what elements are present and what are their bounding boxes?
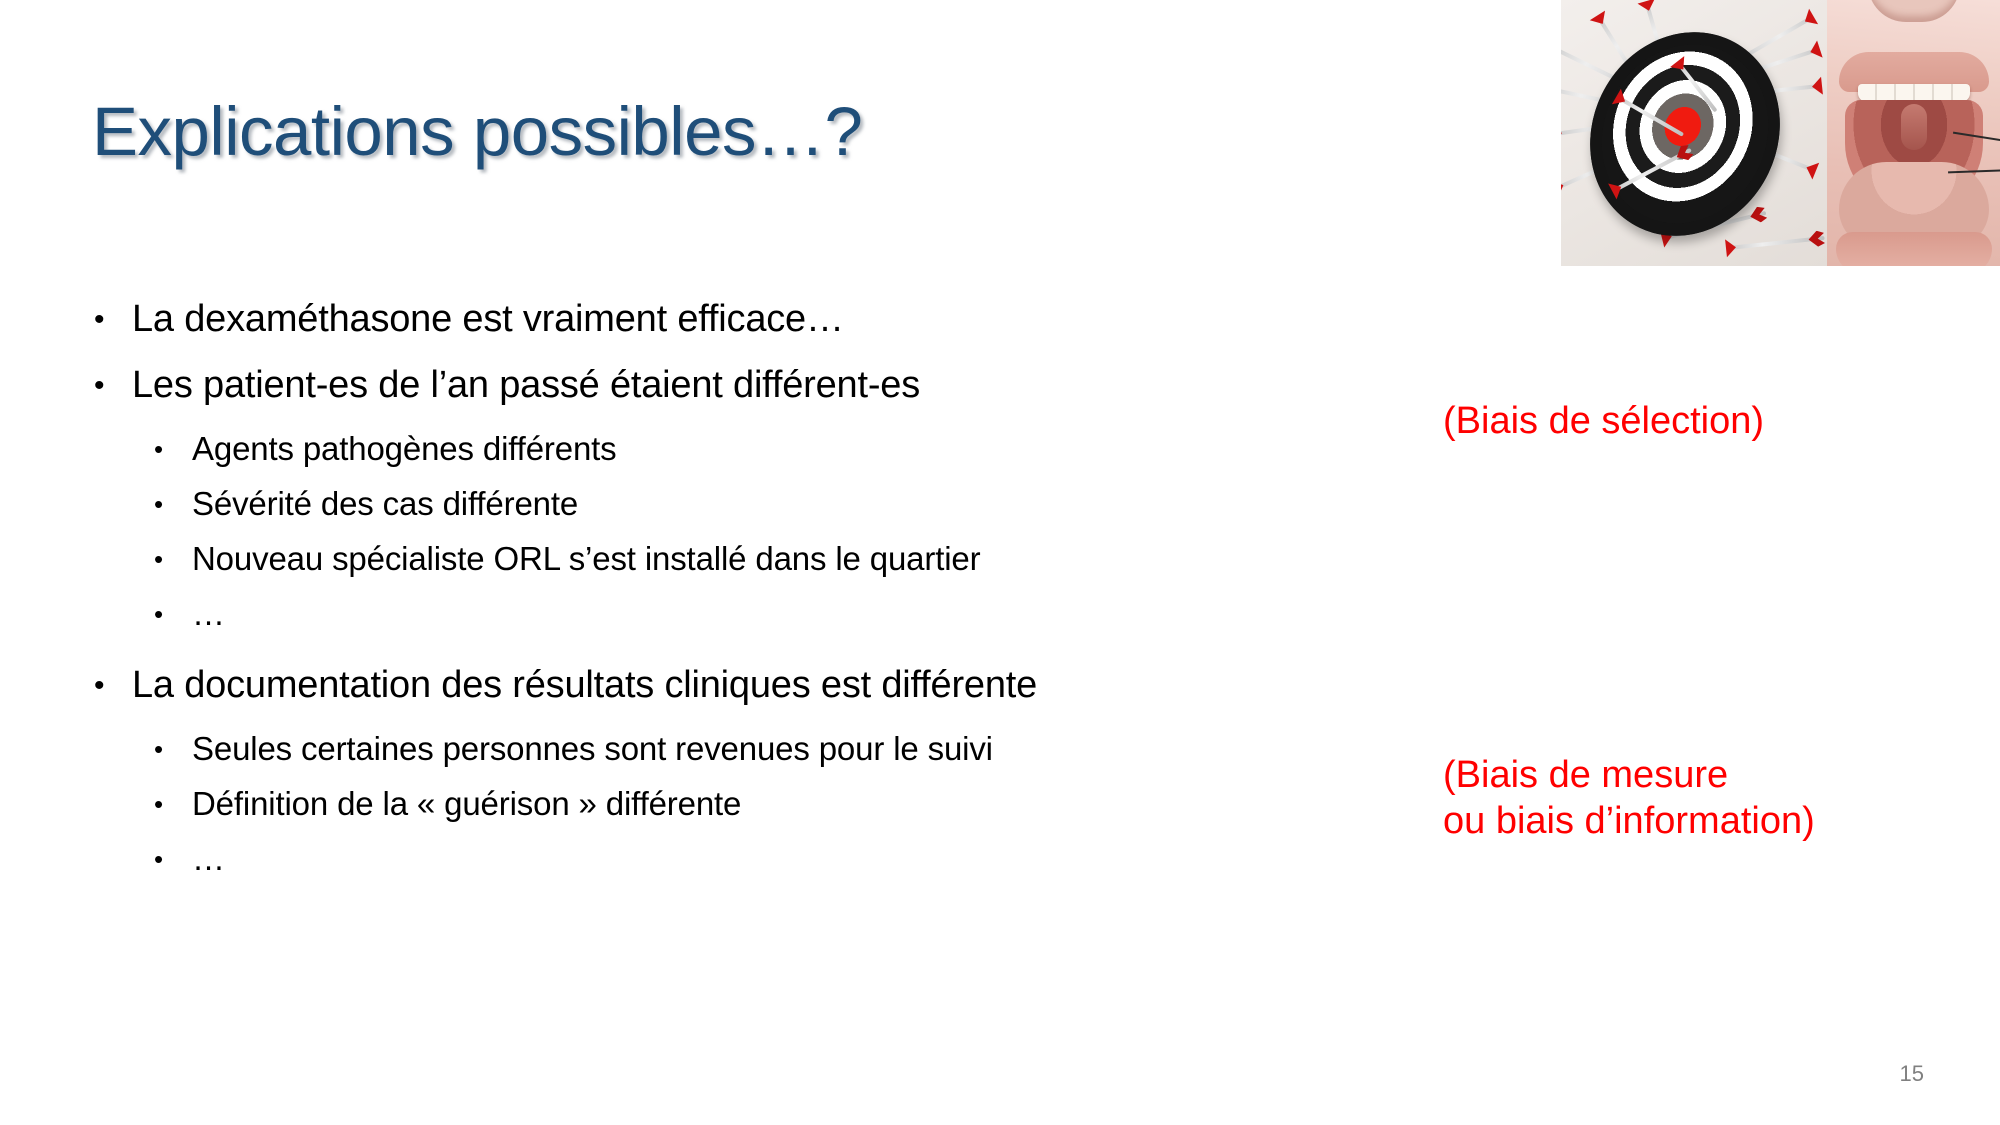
- annotation-measurement-bias: (Biais de mesure ou biais d’information): [1443, 752, 1815, 845]
- bullet-level2: • Nouveau spécialiste ORL s’est installé…: [88, 542, 1378, 575]
- bullet-text: Définition de la « guérison » différente: [192, 785, 741, 822]
- image-strip: [1561, 0, 2000, 266]
- bullet-level1: • Les patient-es de l’an passé étaient d…: [88, 366, 1378, 404]
- archery-target-with-arrows-photo: [1561, 0, 1827, 266]
- bullet-level2: • Sévérité des cas différente: [88, 487, 1378, 520]
- open-mouth-throat-anatomy-photo: [1827, 0, 2000, 266]
- bullet-text: Seules certaines personnes sont revenues…: [192, 730, 993, 767]
- bullet-marker-icon: •: [94, 667, 104, 705]
- bullet-text: …: [192, 840, 225, 877]
- bullet-text: Sévérité des cas différente: [192, 485, 578, 522]
- bullet-level1: • La dexaméthasone est vraiment efficace…: [88, 300, 1378, 338]
- bullet-marker-icon: •: [154, 543, 163, 576]
- bullet-level2: • Agents pathogènes différents: [88, 432, 1378, 465]
- nose-shape: [1868, 0, 1960, 22]
- bullet-marker-icon: •: [154, 433, 163, 466]
- bullet-marker-icon: •: [154, 488, 163, 521]
- bullet-marker-icon: •: [154, 733, 163, 766]
- bullet-level2: • Seules certaines personnes sont revenu…: [88, 732, 1378, 765]
- slide-canvas: Explications possibles…? • La dexaméthas…: [0, 0, 2000, 1125]
- bullet-marker-icon: •: [94, 301, 104, 339]
- lower-lip-shape: [1836, 232, 1992, 266]
- bullet-marker-icon: •: [154, 598, 163, 631]
- bullet-text: …: [192, 595, 225, 632]
- sub-bullet-group: • Agents pathogènes différents • Sévérit…: [88, 432, 1378, 630]
- bullet-marker-icon: •: [94, 367, 104, 405]
- bullet-level2: • Définition de la « guérison » différen…: [88, 787, 1378, 820]
- bullet-text: Agents pathogènes différents: [192, 430, 617, 467]
- bullet-marker-icon: •: [154, 788, 163, 821]
- bullet-level2: • …: [88, 842, 1378, 875]
- sub-bullet-group: • Seules certaines personnes sont revenu…: [88, 732, 1378, 875]
- bullet-text: La documentation des résultats cliniques…: [132, 664, 1037, 706]
- bullet-marker-icon: •: [154, 843, 163, 876]
- bullet-text: Nouveau spécialiste ORL s’est installé d…: [192, 540, 980, 577]
- bullet-text: Les patient-es de l’an passé étaient dif…: [132, 364, 920, 406]
- bullet-level1: • La documentation des résultats cliniqu…: [88, 666, 1378, 704]
- page-title: Explications possibles…?: [92, 96, 1492, 168]
- page-number: 15: [1900, 1061, 1924, 1087]
- uvula-shape: [1901, 104, 1927, 150]
- bullet-text: La dexaméthasone est vraiment efficace…: [132, 298, 844, 340]
- annotation-selection-bias: (Biais de sélection): [1443, 398, 1764, 444]
- slide-body: • La dexaméthasone est vraiment efficace…: [88, 300, 1378, 897]
- bullet-level2: • …: [88, 597, 1378, 630]
